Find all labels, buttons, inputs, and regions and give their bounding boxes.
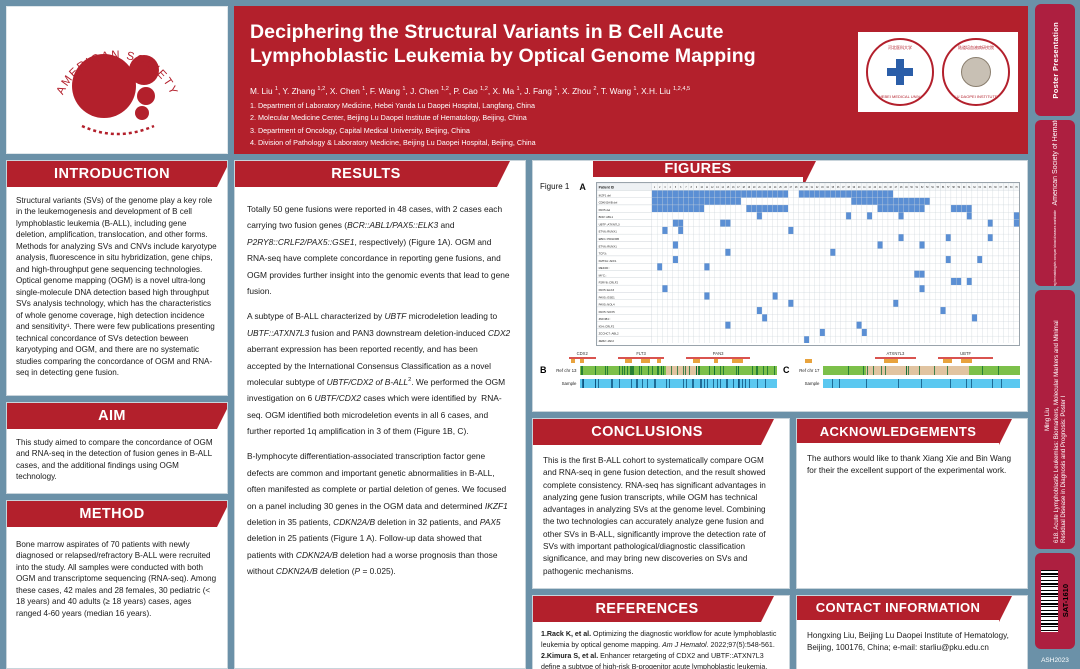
figures-heading: FIGURES: [593, 161, 803, 177]
map-label-tick: [709, 366, 710, 375]
svg-text:Patient ID: Patient ID: [598, 185, 614, 189]
map-label-tick: [723, 366, 724, 375]
poster-columns: INTRODUCTION Structural variants (SVs) o…: [6, 160, 1028, 669]
acknowledgements-heading: ACKNOWLEDGEMENTS: [797, 419, 999, 443]
oncoprint-heatmap: Patient ID123456789101112131415161718192…: [596, 182, 1020, 346]
contact-heading: CONTACT INFORMATION: [797, 596, 999, 620]
panel-c-reference-map: [823, 366, 1021, 375]
map-label-tick: [966, 379, 967, 388]
map-label-tick: [898, 379, 899, 388]
sidebar-poster-code: SAT-1610: [1061, 584, 1070, 617]
page-title: Deciphering the Structural Variants in B…: [250, 20, 850, 69]
map-label-tick: [848, 366, 849, 375]
svg-text:P2RY8::CRLF2: P2RY8::CRLF2: [598, 281, 618, 285]
poster-header: AMERICAN SOCIETY OF HEMATOLOGY Decipheri…: [6, 6, 1028, 154]
svg-text:UBTF::ATXN7L3: UBTF::ATXN7L3: [598, 222, 619, 226]
sidebar-society-tagline: Helping hematologists conquer blood dise…: [1053, 210, 1057, 286]
ash-logo-icon: AMERICAN SOCIETY OF HEMATOLOGY: [42, 14, 192, 146]
sidebar-presenter-name: Ming Liu: [1044, 408, 1051, 431]
gene-label-atxn7l3: ATXN7L3: [887, 351, 905, 356]
map-label-tick: [749, 379, 750, 388]
reference-2-authors: 2.Kimura S, et al.: [541, 652, 598, 660]
sidebar-brand-box: Poster Presentation: [1035, 4, 1075, 116]
results-panel: RESULTS Totally 50 gene fusions were rep…: [234, 160, 526, 669]
map-label-tick: [639, 366, 640, 375]
sidebar-session-wrap: 618. Acute Lymphoblastic Leukemias: Biom…: [1044, 296, 1067, 543]
svg-text:EBF1::PDGFRB: EBF1::PDGFRB: [598, 237, 619, 241]
map-label-tick: [832, 379, 833, 388]
map-label-tick: [736, 366, 737, 375]
panel-b-sample-label: Sample: [551, 381, 577, 386]
reference-item-1: 1.Rack K, et al. Optimizing the diagnost…: [541, 629, 781, 651]
map-label-tick: [698, 366, 699, 375]
affiliation-1: 1. Department of Laboratory Medicine, He…: [250, 100, 890, 112]
svg-text:PAX5 del: PAX5 del: [598, 208, 610, 212]
map-label-tick: [733, 379, 734, 388]
map-label-tick: [595, 366, 596, 375]
map-label-tick: [624, 366, 625, 375]
references-panel: REFERENCES 1.Rack K, et al. Optimizing t…: [532, 595, 790, 669]
map-label-tick: [607, 366, 608, 375]
map-label-tick: [906, 366, 907, 375]
poster-board: AMERICAN SOCIETY OF HEMATOLOGY Decipheri…: [0, 0, 1032, 669]
affiliation-3: 3. Department of Oncology, Capital Medic…: [250, 125, 890, 137]
svg-text:BCR::ABL1: BCR::ABL1: [598, 215, 613, 219]
map-label-tick: [686, 379, 687, 388]
row-conclusions-ack: CONCLUSIONS This is the first B-ALL coho…: [532, 418, 1028, 589]
oncoprint-svg: Patient ID123456789101112131415161718192…: [597, 183, 1019, 343]
map-label-tick: [683, 379, 684, 388]
conference-sidebar: Poster Presentation American Society of …: [1032, 0, 1080, 669]
sidebar-poster-code-box: SAT-1610: [1035, 553, 1075, 649]
map-label-tick: [652, 366, 653, 375]
contact-panel: CONTACT INFORMATION Hongxing Liu, Beijin…: [796, 595, 1028, 669]
map-label-tick: [971, 379, 972, 388]
figures-content: Figure 1 A Patient ID1234567891011121314…: [533, 177, 1027, 412]
map-label-tick: [866, 379, 867, 388]
aim-text: This study aimed to compare the concorda…: [7, 429, 227, 493]
medical-cross-icon: [887, 59, 913, 85]
svg-text:ZNF384::: ZNF384::: [598, 317, 610, 321]
map-label-tick: [677, 366, 678, 375]
poster-root: AMERICAN SOCIETY OF HEMATOLOGY Decipheri…: [0, 0, 1080, 669]
map-label-tick: [739, 379, 740, 388]
results-paragraph-1: Totally 50 gene fusions were reported in…: [247, 201, 513, 299]
map-label-tick: [671, 366, 672, 375]
method-heading: METHOD: [7, 501, 217, 527]
map-label-tick: [619, 366, 620, 375]
svg-text:ETV6::RUNX1: ETV6::RUNX1: [598, 244, 617, 248]
reference-1-details: . 2022;97(5):548-561.: [707, 641, 775, 649]
map-label-tick: [612, 379, 613, 388]
panel-c-sample-row: Sample: [794, 378, 1021, 389]
map-label-tick: [714, 366, 715, 375]
map-label-tick: [982, 366, 983, 375]
map-label-tick: [685, 366, 686, 375]
sidebar-society-box: American Society of Hematology Helping h…: [1035, 120, 1075, 286]
panel-b-reference-map: [580, 366, 778, 375]
reference-1-authors: 1.Rack K, et al.: [541, 630, 591, 638]
title-block: Deciphering the Structural Variants in B…: [234, 6, 1028, 154]
map-label-tick: [605, 366, 606, 375]
panel-c-body: ATXN7L3 UBTF: [794, 351, 1021, 409]
aim-heading: AIM: [7, 403, 217, 429]
map-label-tick: [950, 379, 951, 388]
figure-number: Figure 1: [540, 182, 569, 191]
references-text: 1.Rack K, et al. Optimizing the diagnost…: [533, 622, 789, 669]
map-label-tick: [908, 366, 909, 375]
aim-panel: AIM This study aimed to compare the conc…: [6, 402, 228, 494]
map-label-tick: [713, 379, 714, 388]
map-label-tick: [641, 366, 642, 375]
svg-text:ZEB2::JAK2: ZEB2::JAK2: [598, 339, 614, 343]
panel-b-sample-map: [580, 379, 778, 388]
method-text: Bone marrow aspirates of 70 patients wit…: [7, 527, 227, 629]
conclusions-panel: CONCLUSIONS This is the first B-ALL coho…: [532, 418, 790, 589]
panel-b-ref-label: Ref chr 13: [551, 368, 577, 373]
lu-daopei-institute-logo: 陆道培血液病研究院 LU DAOPEI INSTITUTE: [942, 38, 1010, 106]
sidebar-brand-label: Poster Presentation: [1051, 22, 1060, 99]
gene-label-ubtf: UBTF: [960, 351, 971, 356]
svg-text:MYC::: MYC::: [598, 273, 606, 277]
ash-logo-box: AMERICAN SOCIETY OF HEMATOLOGY: [6, 6, 228, 154]
panel-b-maps: Ref chr 13 Sample: [551, 365, 778, 409]
references-heading: REFERENCES: [533, 596, 761, 622]
panel-b-letter: B: [540, 351, 547, 409]
map-label-tick: [757, 379, 758, 388]
map-label-tick: [765, 379, 766, 388]
map-label-tick: [873, 366, 874, 375]
map-label-tick: [867, 366, 868, 375]
introduction-panel: INTRODUCTION Structural variants (SVs) o…: [6, 160, 228, 396]
barcode-icon: [1041, 570, 1058, 632]
sidebar-meeting-year: ASH2023: [1041, 655, 1069, 664]
logo-bottom-text-2: LU DAOPEI INSTITUTE: [944, 94, 1008, 99]
sidebar-session-box: 618. Acute Lymphoblastic Leukemias: Biom…: [1035, 290, 1075, 549]
map-label-tick: [666, 379, 667, 388]
panel-b-gene-track: CDX2 FLT3 PAN3: [551, 351, 778, 365]
map-label-tick: [701, 379, 702, 388]
gene-label-cdx2: CDX2: [577, 351, 588, 356]
affiliation-2: 2. Molecular Medicine Center, Beijing Lu…: [250, 112, 890, 124]
map-label-tick: [756, 366, 757, 375]
map-label-tick: [752, 366, 753, 375]
contact-text: Hongxing Liu, Beijing Lu Daopei Institut…: [797, 620, 1027, 664]
figure-1-header: Figure 1 A Patient ID1234567891011121314…: [540, 182, 1020, 346]
introduction-text: Structural variants (SVs) of the genome …: [7, 187, 227, 389]
map-label-tick: [763, 366, 764, 375]
conclusions-text: This is the first B-ALL cohort to system…: [533, 445, 789, 588]
gene-label-flt3: FLT3: [636, 351, 645, 356]
column-left: INTRODUCTION Structural variants (SVs) o…: [6, 160, 228, 669]
svg-text:TCF3::: TCF3::: [598, 252, 607, 256]
panel-c-gene-track: ATXN7L3 UBTF: [794, 351, 1021, 365]
results-text: Totally 50 gene fusions were reported in…: [235, 187, 525, 594]
map-label-tick: [642, 379, 643, 388]
map-label-tick: [627, 366, 628, 375]
map-label-tick: [581, 366, 582, 375]
panel-c: C ATXN7L3 UBTF: [783, 351, 1020, 409]
map-label-tick: [657, 366, 658, 375]
panel-a-letter: A: [579, 182, 586, 192]
conclusions-heading: CONCLUSIONS: [533, 419, 761, 445]
map-label-tick: [885, 366, 886, 375]
map-label-tick: [669, 379, 670, 388]
map-label-tick: [661, 366, 662, 375]
map-label-tick: [647, 379, 648, 388]
map-label-tick: [707, 379, 708, 388]
map-label-tick: [631, 379, 632, 388]
panel-b-sample-row: Sample: [551, 378, 778, 389]
map-label-tick: [921, 379, 922, 388]
map-label-tick: [683, 366, 684, 375]
map-label-tick: [611, 379, 612, 388]
map-label-tick: [919, 366, 920, 375]
map-label-tick: [863, 366, 864, 375]
map-label-tick: [619, 379, 620, 388]
map-label-tick: [720, 379, 721, 388]
panel-c-letter: C: [783, 351, 790, 409]
results-heading: RESULTS: [235, 161, 497, 187]
map-label-tick: [622, 366, 623, 375]
hebei-medical-university-logo: 河北医科大学 HEBEI MEDICAL UNIV.: [866, 38, 934, 106]
panel-b-ref-row: Ref chr 13: [551, 365, 778, 376]
affiliations: 1. Department of Laboratory Medicine, He…: [250, 100, 890, 150]
map-label-tick: [839, 379, 840, 388]
logo-bottom-text: HEBEI MEDICAL UNIV.: [868, 94, 932, 99]
map-label-tick: [720, 366, 721, 375]
map-label-tick: [631, 366, 632, 375]
svg-text:IKZF1 del: IKZF1 del: [598, 193, 611, 197]
acknowledgements-text: The authors would like to thank Xiang Xi…: [797, 443, 1027, 488]
map-label-tick: [738, 366, 739, 375]
svg-text:CDKN2A/B del: CDKN2A/B del: [598, 201, 617, 205]
sidebar-society-label: American Society of Hematology: [1052, 120, 1059, 206]
map-label-tick: [637, 379, 638, 388]
map-label-tick: [774, 366, 775, 375]
svg-text:MEF2D::: MEF2D::: [598, 266, 609, 270]
map-label-tick: [693, 379, 694, 388]
logo-top-text-2: 陆道培血液病研究院: [944, 45, 1008, 51]
figure-caption: A Blue indicates that the patient carrie…: [540, 409, 1020, 412]
map-label-tick: [745, 379, 746, 388]
panel-b: B CDX2 FLT3 PAN3: [540, 351, 777, 409]
column-middle: RESULTS Totally 50 gene fusions were rep…: [234, 160, 526, 669]
svg-text:PAX5::GSE1: PAX5::GSE1: [598, 295, 615, 299]
panel-c-sample-label: Sample: [794, 381, 820, 386]
results-paragraph-2: A subtype of B-ALL characterized by UBTF…: [247, 308, 513, 439]
map-label-tick: [934, 366, 935, 375]
sidebar-footer: ASH2023: [1035, 653, 1075, 665]
author-list: M. Liu 1, Y. Zhang 1,2, X. Chen 1, F. Wa…: [250, 85, 890, 150]
figures-panel: FIGURES Figure 1 A Patient ID12345678910…: [532, 160, 1028, 412]
method-panel: METHOD Bone marrow aspirates of 70 patie…: [6, 500, 228, 669]
svg-text:KMT2A::AFF1: KMT2A::AFF1: [598, 259, 616, 263]
panel-c-maps: Ref chr 17 Sample: [794, 365, 1021, 409]
map-label-tick: [633, 366, 634, 375]
map-label-tick: [727, 379, 728, 388]
map-label-tick: [992, 379, 993, 388]
map-label-tick: [881, 366, 882, 375]
panel-b-body: CDX2 FLT3 PAN3: [551, 351, 778, 409]
map-label-tick: [742, 379, 743, 388]
map-label-tick: [947, 366, 948, 375]
column-right: FIGURES Figure 1 A Patient ID12345678910…: [532, 160, 1028, 669]
svg-text:IGH::CRLF2: IGH::CRLF2: [598, 324, 614, 328]
map-label-tick: [663, 366, 664, 375]
map-label-tick: [595, 379, 596, 388]
svg-text:PAX5::SOX5: PAX5::SOX5: [598, 310, 615, 314]
map-label-tick: [598, 379, 599, 388]
map-label-tick: [648, 366, 649, 375]
map-label-tick: [655, 379, 656, 388]
results-paragraph-3: B-lymphocyte differentiation-associated …: [247, 448, 513, 579]
institution-logos: 河北医科大学 HEBEI MEDICAL UNIV. 陆道培血液病研究院 LU …: [858, 32, 1018, 112]
map-label-tick: [717, 379, 718, 388]
map-label-tick: [704, 379, 705, 388]
introduction-heading: INTRODUCTION: [7, 161, 217, 187]
logo-top-text: 河北医科大学: [868, 45, 932, 51]
map-label-tick: [998, 366, 999, 375]
map-label-tick: [699, 366, 700, 375]
acknowledgements-panel: ACKNOWLEDGEMENTS The authors would like …: [796, 418, 1028, 589]
svg-text:PAX5::NOL4: PAX5::NOL4: [598, 303, 614, 307]
map-label-tick: [1001, 379, 1002, 388]
gene-label-pan3: PAN3: [713, 351, 724, 356]
svg-text:PAX5::ELK3: PAX5::ELK3: [598, 288, 614, 292]
svg-text:ZCCHC7::ABL2: ZCCHC7::ABL2: [598, 332, 618, 336]
row-references-contact: REFERENCES 1.Rack K, et al. Optimizing t…: [532, 595, 1028, 669]
panel-c-ref-label: Ref chr 17: [794, 368, 820, 373]
reference-1-journal: Am J Hematol: [662, 641, 707, 649]
panel-c-ref-row: Ref chr 17: [794, 365, 1021, 376]
sidebar-session-title: 618. Acute Lymphoblastic Leukemias: Biom…: [1053, 296, 1067, 543]
map-label-tick: [767, 366, 768, 375]
reference-item-2: 2.Kimura S, et al. Enhancer retargeting …: [541, 651, 781, 669]
portrait-icon: [961, 57, 991, 87]
affiliation-4: 4. Division of Pathology & Laboratory Me…: [250, 137, 890, 149]
svg-text:ETV6::RUNX1: ETV6::RUNX1: [598, 230, 617, 234]
map-label-tick: [583, 379, 584, 388]
figure-subpanels: B CDX2 FLT3 PAN3: [540, 351, 1020, 409]
map-label-tick: [689, 366, 690, 375]
panel-c-sample-map: [823, 379, 1021, 388]
